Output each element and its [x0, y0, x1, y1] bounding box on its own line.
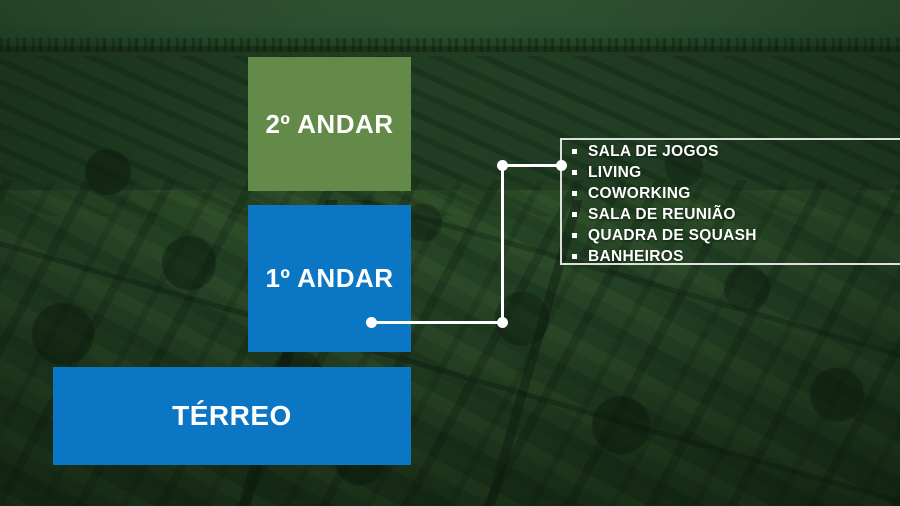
square-bullet-icon — [572, 233, 577, 238]
connector-line-horizontal-top — [501, 164, 562, 167]
connector-line-vertical — [501, 165, 504, 323]
square-bullet-icon — [572, 170, 577, 175]
connector-line-horizontal-bottom — [370, 321, 504, 324]
amenity-label: LIVING — [588, 164, 641, 182]
floor-box-ground-floor[interactable]: TÉRREO — [53, 367, 411, 465]
square-bullet-icon — [572, 149, 577, 154]
list-item: BANHEIROS — [572, 246, 757, 267]
amenity-label: SALA DE JOGOS — [588, 143, 719, 161]
amenity-label: QUADRA DE SQUASH — [588, 227, 757, 245]
list-item: QUADRA DE SQUASH — [572, 225, 757, 246]
list-item: LIVING — [572, 162, 757, 183]
square-bullet-icon — [572, 212, 577, 217]
slide-canvas: 2º ANDAR 1º ANDAR TÉRREO SALA DE JOGOS L… — [0, 0, 900, 506]
floor-label-ground-floor: TÉRREO — [172, 400, 292, 432]
list-item: COWORKING — [572, 183, 757, 204]
connector-dot-elbow-top — [497, 160, 508, 171]
square-bullet-icon — [572, 191, 577, 196]
floor-label-first-floor: 1º ANDAR — [265, 263, 393, 294]
floor-box-first-floor[interactable]: 1º ANDAR — [248, 205, 411, 352]
connector-dot-elbow-bottom — [497, 317, 508, 328]
square-bullet-icon — [572, 254, 577, 259]
amenities-list: SALA DE JOGOS LIVING COWORKING SALA DE R… — [572, 141, 757, 267]
connector-dot-floor — [366, 317, 377, 328]
floor-box-second-floor[interactable]: 2º ANDAR — [248, 57, 411, 191]
floor-label-second-floor: 2º ANDAR — [265, 109, 393, 140]
amenity-label: COWORKING — [588, 185, 691, 203]
list-item: SALA DE REUNIÃO — [572, 204, 757, 225]
amenity-label: SALA DE REUNIÃO — [588, 206, 736, 224]
list-item: SALA DE JOGOS — [572, 141, 757, 162]
amenity-label: BANHEIROS — [588, 248, 684, 266]
